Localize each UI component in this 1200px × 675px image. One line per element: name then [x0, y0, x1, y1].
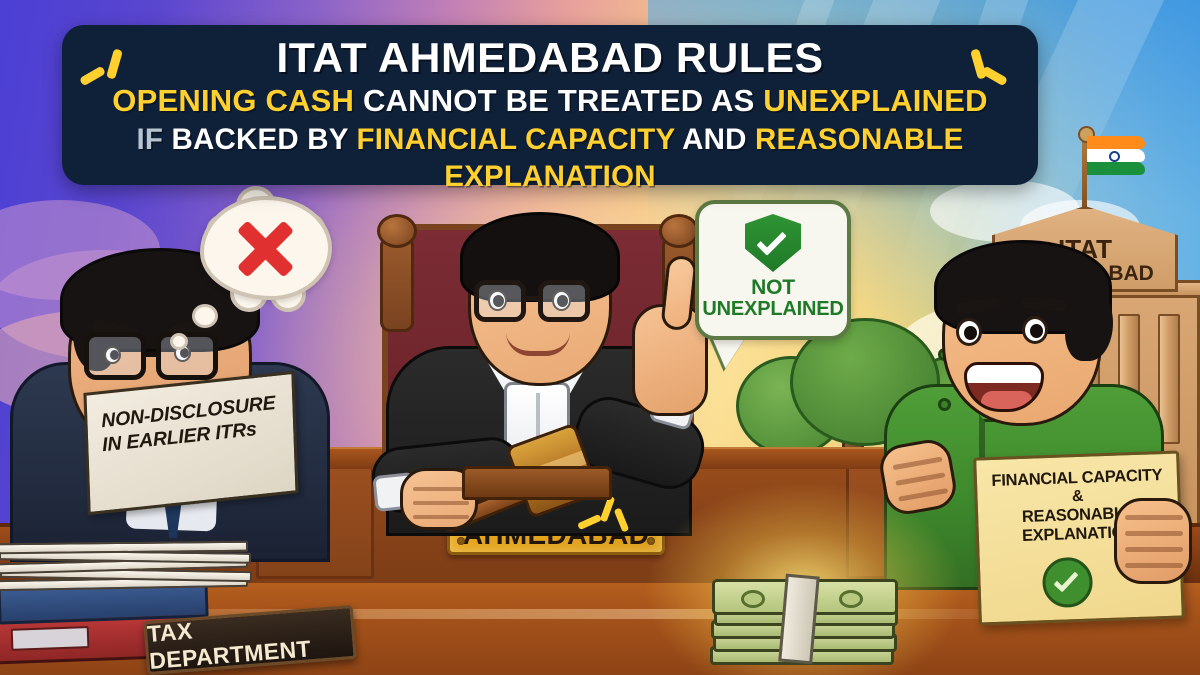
headline-part: AND — [682, 123, 747, 156]
cash-bundle — [700, 555, 900, 671]
tongue — [981, 391, 1033, 409]
green-check-circle-icon — [1042, 557, 1094, 609]
headline-part: BACKED BY — [171, 123, 348, 156]
headline-line3: IF BACKED BY FINANCIAL CAPACITY AND REAS… — [88, 121, 1012, 197]
glasses-icon — [474, 280, 526, 322]
banknote-stack — [710, 589, 894, 665]
headline-part: CANNOT BE TREATED AS — [363, 83, 755, 118]
gavel-sound-block — [462, 466, 612, 500]
taxpayer-holding-hand — [1114, 498, 1192, 584]
flagpole — [1082, 134, 1087, 212]
ashoka-chakra-icon — [1109, 151, 1120, 162]
chair-post — [380, 236, 414, 332]
glasses-bridge — [526, 296, 538, 301]
india-flag-icon — [1087, 136, 1145, 176]
headline-part: UNEXPLAINED — [763, 83, 987, 118]
check-mark — [756, 225, 786, 255]
glasses-icon — [84, 332, 146, 380]
teeth — [967, 365, 1044, 383]
bubble-dot — [192, 304, 218, 328]
banknote-seal — [839, 590, 863, 608]
glasses-icon — [538, 280, 590, 322]
headline-banner: ITAT AHMEDABAD RULES OPENING CASH CANNOT… — [62, 25, 1038, 185]
chair-finial — [377, 214, 417, 248]
headline-part: FINANCIAL CAPACITY — [357, 123, 675, 156]
illustration-canvas: ITAT AHMEDABAD ITAT AHMEDABAD — [0, 0, 1200, 675]
red-cross-icon — [234, 218, 296, 280]
glasses-bridge — [145, 352, 159, 357]
non-disclosure-document: NON-DISCLOSURE IN EARLIER ITRs — [83, 371, 298, 515]
green-shield-check-icon — [745, 214, 801, 272]
paper-stack — [0, 541, 248, 589]
bubble-line1: NOT — [751, 277, 795, 299]
headline-part: IF — [136, 123, 163, 156]
thought-bubble — [200, 196, 332, 300]
gavel-impact-sparks — [584, 496, 644, 556]
speech-bubble: NOT UNEXPLAINED — [695, 200, 851, 340]
chair-finial — [659, 214, 699, 248]
taxpayer-pupil — [1030, 324, 1043, 338]
banknote-seal — [741, 590, 765, 608]
headline-part: OPENING CASH — [112, 83, 354, 118]
taxpayer-pupil — [964, 326, 977, 340]
file-label — [11, 626, 90, 651]
bubble-line2: UNEXPLAINED — [702, 299, 843, 320]
check-mark — [1053, 567, 1078, 593]
headline-line2: OPENING CASH CANNOT BE TREATED AS UNEXPL… — [88, 81, 1012, 121]
headline-line1: ITAT AHMEDABAD RULES — [79, 34, 1021, 81]
bubble-dot — [170, 333, 188, 350]
shirt-button — [938, 398, 951, 411]
